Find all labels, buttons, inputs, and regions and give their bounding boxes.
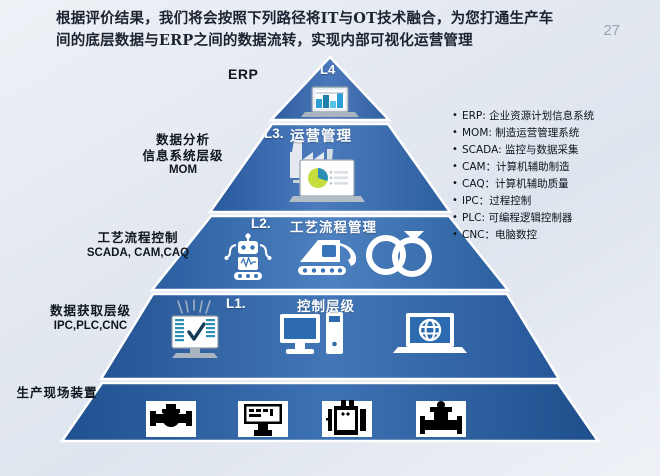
legend-item: • MOM: 制造运营管理系统 — [452, 125, 652, 142]
erp-label: ERP — [228, 66, 258, 82]
side-label-mom-abbrev: MOM — [118, 163, 248, 177]
side-label-field: 生产现场装置 — [2, 385, 112, 401]
legend-item-label: MOM: 制造运营管理系统 — [462, 125, 579, 142]
legend-bullet-icon: • — [452, 227, 462, 243]
tier-title-l1: 控制层级 — [297, 295, 355, 315]
side-label-scada-abbrev: SCADA, CAM,CAQ — [58, 246, 218, 260]
legend-bullet-icon: • — [452, 210, 462, 226]
legend-item-label: ERP: 企业资源计划信息系统 — [462, 108, 594, 125]
legend-item-label: PLC: 可编程逻辑控制器 — [462, 210, 572, 227]
field-device-tile-1[interactable] — [146, 401, 196, 437]
field-device-tile-3[interactable] — [322, 400, 372, 437]
legend-item-label: SCADA: 监控与数据采集 — [462, 142, 578, 159]
legend-bullet-icon: • — [452, 142, 462, 158]
side-label-mom: 数据分析 信息系统层级 MOM — [118, 132, 248, 178]
tier-level-l3: L3. — [264, 126, 284, 141]
laptop-pie-icon — [289, 160, 365, 202]
field-device-tile-4[interactable] — [416, 401, 466, 437]
legend-item-label: IPC：过程控制 — [462, 193, 531, 210]
legend-bullet-icon: • — [452, 108, 462, 124]
legend-item: • PLC: 可编程逻辑控制器 — [452, 210, 652, 227]
legend-item: • ERP: 企业资源计划信息系统 — [452, 108, 652, 125]
side-label-ipc-line1: 数据获取层级 — [18, 303, 163, 319]
side-label-ipc: 数据获取层级 IPC,PLC,CNC — [18, 303, 163, 333]
legend-item: • SCADA: 监控与数据采集 — [452, 142, 652, 159]
legend-item-label: CNC：电脑数控 — [462, 227, 537, 244]
side-label-scada-line1: 工艺流程控制 — [58, 230, 218, 246]
legend-bullet-icon: • — [452, 176, 462, 192]
side-label-ipc-abbrev: IPC,PLC,CNC — [18, 319, 163, 333]
field-device-tile-2[interactable] — [238, 401, 288, 437]
legend-item: • IPC：过程控制 — [452, 193, 652, 210]
legend-item-label: CAM：计算机辅助制造 — [462, 159, 570, 176]
legend-bullet-icon: • — [452, 159, 462, 175]
tier-level-l2: L2. — [251, 216, 271, 231]
tier-level-l4: L4 — [320, 62, 335, 77]
tier-title-l3: 运营管理 — [290, 125, 352, 146]
side-label-mom-line1: 数据分析 — [118, 132, 248, 148]
legend-bullet-icon: • — [452, 193, 462, 209]
legend-list: • ERP: 企业资源计划信息系统 • MOM: 制造运营管理系统 • SCAD… — [452, 108, 652, 244]
legend-item: • CAM：计算机辅助制造 — [452, 159, 652, 176]
tier-title-l2: 工艺流程管理 — [290, 216, 377, 236]
side-label-mom-line2: 信息系统层级 — [118, 148, 248, 164]
slide-canvas: 根据评价结果，我们将会按照下列路径将IT与OT技术融合，为您打通生产车 间的底层… — [0, 0, 660, 476]
tier-level-l1: L1. — [226, 296, 246, 311]
legend-item-label: CAQ：计算机辅助质量 — [462, 176, 569, 193]
side-label-scada: 工艺流程控制 SCADA, CAM,CAQ — [58, 230, 218, 260]
legend-bullet-icon: • — [452, 125, 462, 141]
side-label-field-line1: 生产现场装置 — [2, 385, 112, 401]
legend-item: • CNC：电脑数控 — [452, 227, 652, 244]
legend-item: • CAQ：计算机辅助质量 — [452, 176, 652, 193]
legend: • ERP: 企业资源计划信息系统 • MOM: 制造运营管理系统 • SCAD… — [452, 108, 652, 244]
